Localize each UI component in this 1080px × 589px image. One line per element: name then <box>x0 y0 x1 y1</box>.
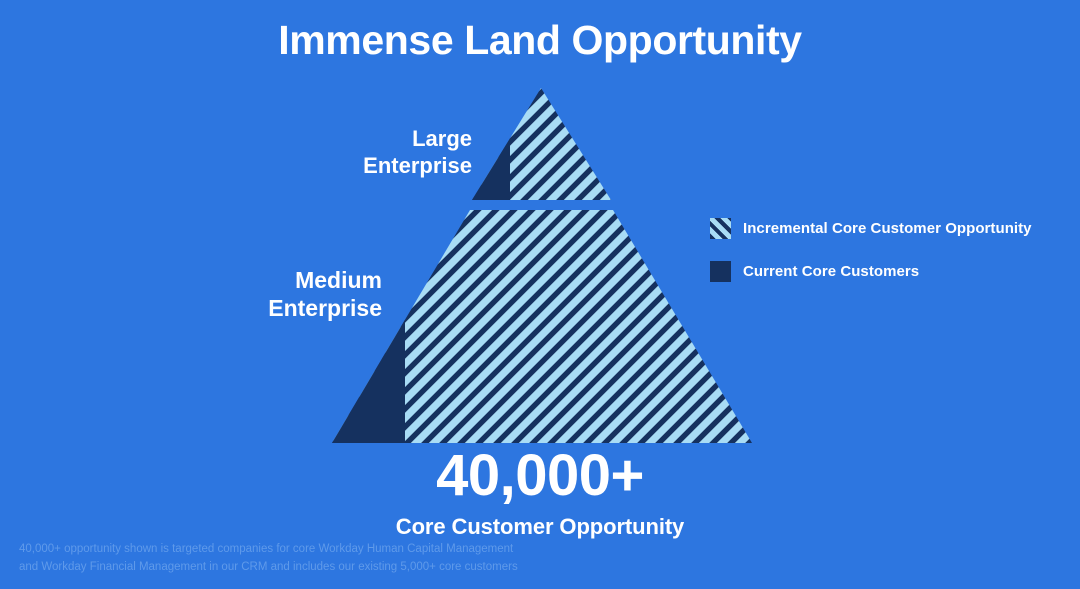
tier-label-medium-enterprise: Medium Enterprise <box>82 266 382 322</box>
legend-swatch-solid-icon <box>710 261 731 282</box>
medium-enterprise-incremental-area <box>320 205 770 450</box>
slide-canvas: Immense Land Opportunity <box>0 0 1080 589</box>
stat-number: 40,000+ <box>0 447 1080 505</box>
chart-legend: Incremental Core Customer Opportunity Cu… <box>710 218 1070 282</box>
footnote: 40,000+ opportunity shown is targeted co… <box>19 541 659 577</box>
page-title: Immense Land Opportunity <box>0 18 1080 64</box>
tier-label-large-enterprise: Large Enterprise <box>172 126 472 180</box>
legend-item-incremental: Incremental Core Customer Opportunity <box>710 218 1070 239</box>
legend-label-incremental: Incremental Core Customer Opportunity <box>743 220 1032 237</box>
tier-large-enterprise <box>460 80 630 210</box>
tier-medium-enterprise <box>320 205 770 450</box>
stat-caption: Core Customer Opportunity <box>0 514 1080 540</box>
legend-swatch-hatched-icon <box>710 218 731 239</box>
stat-block: 40,000+ Core Customer Opportunity <box>0 447 1080 540</box>
medium-enterprise-current-area <box>320 318 405 450</box>
legend-item-current: Current Core Customers <box>710 261 1070 282</box>
legend-label-current: Current Core Customers <box>743 263 919 280</box>
medium-enterprise-current-area-fill <box>332 330 405 443</box>
large-enterprise-incremental-area <box>460 80 630 210</box>
